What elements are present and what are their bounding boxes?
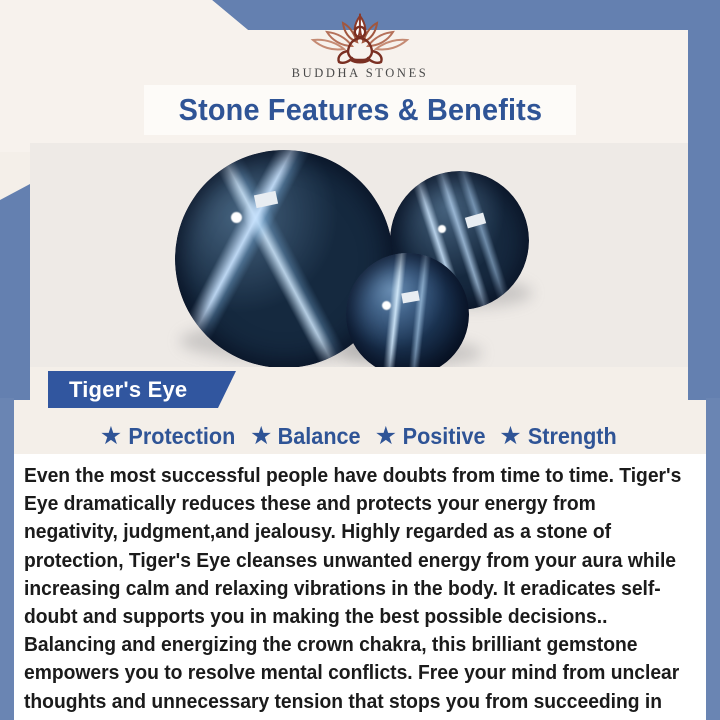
product-photo xyxy=(30,143,688,367)
sphere-rim-shade xyxy=(346,253,469,367)
benefit-item-balance: ★ Balance xyxy=(245,423,370,450)
benefit-label: Strength xyxy=(527,423,616,450)
decor-left-blue-bar xyxy=(0,184,30,400)
page-title: Stone Features & Benefits xyxy=(178,92,542,128)
benefit-item-strength: ★ Strength xyxy=(494,423,625,450)
decor-left-lower-blue-bar xyxy=(0,398,14,720)
stone-name-banner: Tiger's Eye xyxy=(48,371,236,408)
benefit-item-positive: ★ Positive xyxy=(370,423,495,450)
benefit-label: Positive xyxy=(403,423,486,450)
infographic-page: BUDDHA STONES Stone Features & Benefits xyxy=(0,0,720,720)
specular-highlight xyxy=(438,225,446,233)
description-text: Even the most successful people have dou… xyxy=(24,462,694,720)
specular-highlight xyxy=(231,212,242,223)
stone-name: Tiger's Eye xyxy=(69,377,187,403)
benefit-item-protection: ★ Protection xyxy=(95,423,245,450)
specular-highlight xyxy=(382,301,391,310)
star-icon: ★ xyxy=(499,424,521,449)
star-icon: ★ xyxy=(375,424,397,449)
star-icon: ★ xyxy=(100,424,122,449)
page-title-band: Stone Features & Benefits xyxy=(144,85,576,135)
lotus-meditation-icon xyxy=(299,8,421,68)
benefits-row: ★ Protection ★ Balance ★ Positive ★ Stre… xyxy=(14,418,706,454)
brand-name: BUDDHA STONES xyxy=(292,66,429,81)
benefit-label: Protection xyxy=(129,423,236,450)
benefit-label: Balance xyxy=(278,423,361,450)
description-panel: Even the most successful people have dou… xyxy=(14,454,706,720)
star-icon: ★ xyxy=(250,424,272,449)
decor-right-lower-blue-bar xyxy=(706,398,720,720)
brand-logo: BUDDHA STONES xyxy=(0,8,720,92)
stone-sphere-small xyxy=(346,253,469,367)
